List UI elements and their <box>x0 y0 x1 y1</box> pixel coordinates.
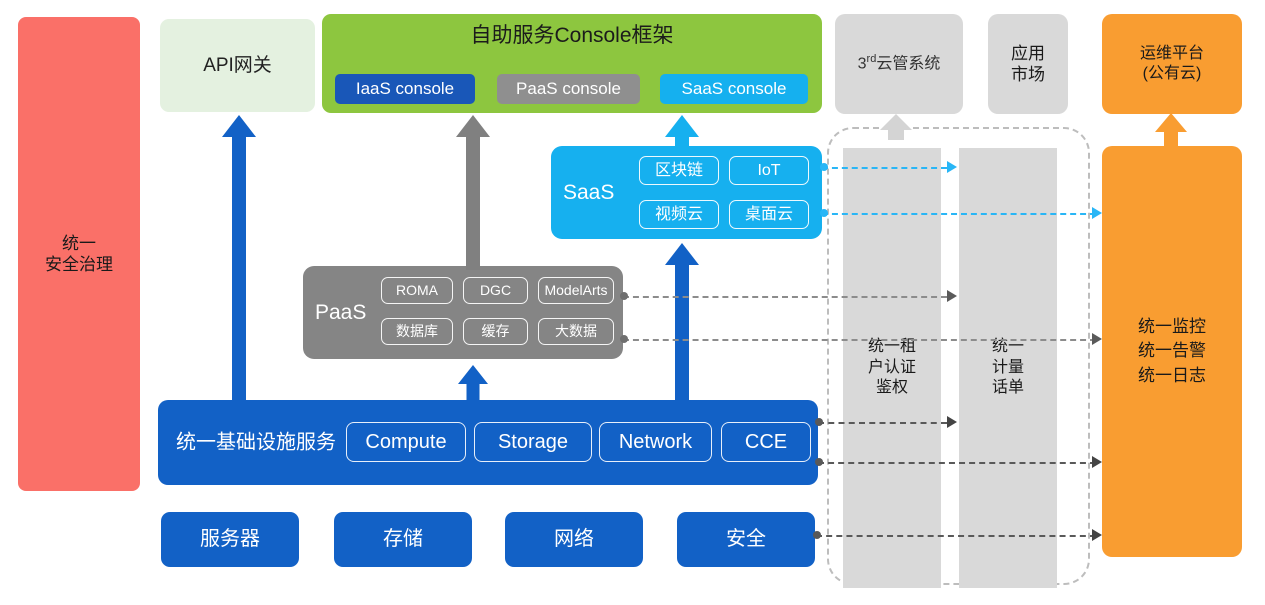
ops-platform-public-cloud-box[interactable]: 运维平台 (公有云) <box>1102 14 1242 114</box>
arrow-up-ops-to-platform <box>1155 113 1187 147</box>
ops-platform-public-cloud-label: 运维平台 (公有云) <box>1140 44 1204 84</box>
arrow-head-paas-to-auth <box>947 290 957 302</box>
dashed-origin-dot-paas-ops <box>620 335 628 343</box>
arrow-head-iaas-to-ops <box>1092 456 1102 468</box>
arrow-head-paas-to-ops <box>1092 333 1102 345</box>
saas-service-video-cloud-label: 视频云 <box>655 205 703 225</box>
api-gateway-box[interactable]: API网关 <box>160 19 315 112</box>
hardware-box-network-label: 网络 <box>554 527 594 552</box>
infra-service-cce-label: CCE <box>745 430 787 455</box>
paas-service-database[interactable]: 数据库 <box>381 318 453 345</box>
arrow-head-saas-to-ops <box>1092 207 1102 219</box>
ops-platform-line2: (公有云) <box>1140 64 1204 84</box>
infra-service-storage[interactable]: Storage <box>474 422 592 462</box>
unified-ops-line1: 统一监控 <box>1138 315 1206 340</box>
unified-ops-label: 统一监控 统一告警 统一日志 <box>1138 315 1206 389</box>
arrow-head-hardware-to-ops <box>1092 529 1102 541</box>
saas-service-iot-label: IoT <box>757 161 780 181</box>
dashed-origin-dot-iaas-ops <box>815 458 823 466</box>
paas-service-database-label: 数据库 <box>396 323 438 341</box>
paas-service-bigdata-label: 大数据 <box>555 323 597 341</box>
paas-layer-panel[interactable]: PaaS ROMA DGC ModelArts 数据库 缓存 大数据 <box>303 266 623 359</box>
hardware-box-storage-label: 存储 <box>383 527 423 552</box>
unified-billing-line2: 计量 <box>992 358 1024 379</box>
arrow-up-iaas-to-paas <box>458 365 488 402</box>
paas-service-dgc[interactable]: DGC <box>463 277 528 304</box>
unified-tenant-auth-line2: 户认证 <box>868 358 916 379</box>
infra-service-compute[interactable]: Compute <box>346 422 466 462</box>
security-governance-label: 统一 安全治理 <box>45 233 113 276</box>
app-market-box[interactable]: 应用 市场 <box>988 14 1068 114</box>
saas-service-desktop-cloud[interactable]: 桌面云 <box>729 200 809 229</box>
unified-ops-line3: 统一日志 <box>1138 364 1206 389</box>
unified-billing-label: 统一 计量 话单 <box>992 337 1024 399</box>
arrow-head-saas-to-billing <box>947 161 957 173</box>
unified-infrastructure-panel[interactable]: 统一基础设施服务 Compute Storage Network CCE <box>158 400 818 485</box>
arrow-up-iaas-to-saas <box>665 243 699 402</box>
unified-billing-line3: 话单 <box>992 378 1024 399</box>
infra-service-storage-label: Storage <box>498 430 568 455</box>
paas-console-chip[interactable]: PaaS console <box>497 74 640 104</box>
unified-tenant-auth-label: 统一租 户认证 鉴权 <box>868 337 916 399</box>
dashed-line-iaas-to-ops <box>818 462 1096 464</box>
paas-service-dgc-label: DGC <box>480 282 511 300</box>
paas-service-roma[interactable]: ROMA <box>381 277 453 304</box>
third-party-superscript: rd <box>867 53 877 65</box>
arrow-up-iaas-to-api-gateway <box>222 115 256 402</box>
unified-infrastructure-label: 统一基础设施服务 <box>176 430 336 455</box>
saas-layer-panel[interactable]: SaaS 区块链 IoT 视频云 桌面云 <box>551 146 822 239</box>
hardware-box-storage[interactable]: 存储 <box>334 512 472 567</box>
saas-service-blockchain-label: 区块链 <box>655 161 703 181</box>
hardware-box-server[interactable]: 服务器 <box>161 512 299 567</box>
paas-layer-label: PaaS <box>315 299 366 325</box>
infra-service-network[interactable]: Network <box>599 422 712 462</box>
console-framework-title: 自助服务Console框架 <box>322 23 822 49</box>
architecture-diagram: 统一 安全治理 API网关 自助服务Console框架 IaaS console… <box>0 0 1265 605</box>
dashed-line-saas-to-ops <box>822 213 1096 215</box>
security-governance-line1: 统一 <box>45 233 113 254</box>
saas-service-desktop-cloud-label: 桌面云 <box>745 205 793 225</box>
iaas-console-chip[interactable]: IaaS console <box>335 74 475 104</box>
security-governance-line2: 安全治理 <box>45 254 113 275</box>
dashed-origin-dot-saas-billing <box>820 163 828 171</box>
ops-platform-line1: 运维平台 <box>1140 44 1204 64</box>
dashed-origin-dot-iaas-auth <box>815 418 823 426</box>
third-party-rest: 云管系统 <box>876 56 940 73</box>
arrow-up-shared-to-third-party <box>880 114 912 140</box>
paas-service-modelarts-label: ModelArts <box>544 282 607 300</box>
paas-service-bigdata[interactable]: 大数据 <box>538 318 614 345</box>
unified-tenant-auth-line3: 鉴权 <box>868 378 916 399</box>
dashed-origin-dot-hardware-ops <box>813 531 821 539</box>
paas-console-label: PaaS console <box>516 78 621 99</box>
dashed-line-saas-to-billing <box>822 167 947 169</box>
saas-console-label: SaaS console <box>682 78 787 99</box>
console-framework-panel[interactable]: 自助服务Console框架 IaaS console PaaS console … <box>322 14 822 113</box>
arrow-head-iaas-to-auth <box>947 416 957 428</box>
app-market-line1: 应用 <box>1011 43 1045 64</box>
paas-service-modelarts[interactable]: ModelArts <box>538 277 614 304</box>
arrow-up-paas-to-console <box>456 115 490 270</box>
third-party-prefix: 3 <box>858 56 867 73</box>
saas-service-blockchain[interactable]: 区块链 <box>639 156 719 185</box>
infra-service-compute-label: Compute <box>365 430 446 455</box>
saas-layer-label: SaaS <box>563 179 614 205</box>
saas-service-iot[interactable]: IoT <box>729 156 809 185</box>
paas-service-cache[interactable]: 缓存 <box>463 318 528 345</box>
infra-service-network-label: Network <box>619 430 692 455</box>
unified-ops-line2: 统一告警 <box>1138 339 1206 364</box>
hardware-box-security-label: 安全 <box>726 527 766 552</box>
hardware-box-security[interactable]: 安全 <box>677 512 815 567</box>
paas-service-cache-label: 缓存 <box>482 323 510 341</box>
api-gateway-label: API网关 <box>203 54 272 78</box>
hardware-box-server-label: 服务器 <box>200 527 260 552</box>
dashed-origin-dot-paas-auth <box>620 292 628 300</box>
iaas-console-label: IaaS console <box>356 78 454 99</box>
dashed-line-paas-to-ops <box>623 339 1096 341</box>
arrow-up-saas-to-console <box>665 115 699 150</box>
third-party-cloud-mgmt-box[interactable]: 3rd云管系统 <box>835 14 963 114</box>
app-market-label: 应用 市场 <box>1011 43 1045 86</box>
app-market-line2: 市场 <box>1011 64 1045 85</box>
dashed-line-paas-to-auth <box>623 296 947 298</box>
security-governance-panel[interactable]: 统一 安全治理 <box>18 17 140 491</box>
infra-service-cce[interactable]: CCE <box>721 422 811 462</box>
dashed-line-hardware-to-ops <box>816 535 1096 537</box>
hardware-box-network[interactable]: 网络 <box>505 512 643 567</box>
saas-service-video-cloud[interactable]: 视频云 <box>639 200 719 229</box>
saas-console-chip[interactable]: SaaS console <box>660 74 808 104</box>
third-party-cloud-mgmt-label: 3rd云管系统 <box>858 53 941 74</box>
dashed-line-iaas-to-auth <box>818 422 947 424</box>
paas-service-roma-label: ROMA <box>396 282 438 300</box>
unified-ops-panel[interactable]: 统一监控 统一告警 统一日志 <box>1102 146 1242 557</box>
dashed-origin-dot-saas-ops <box>820 209 828 217</box>
